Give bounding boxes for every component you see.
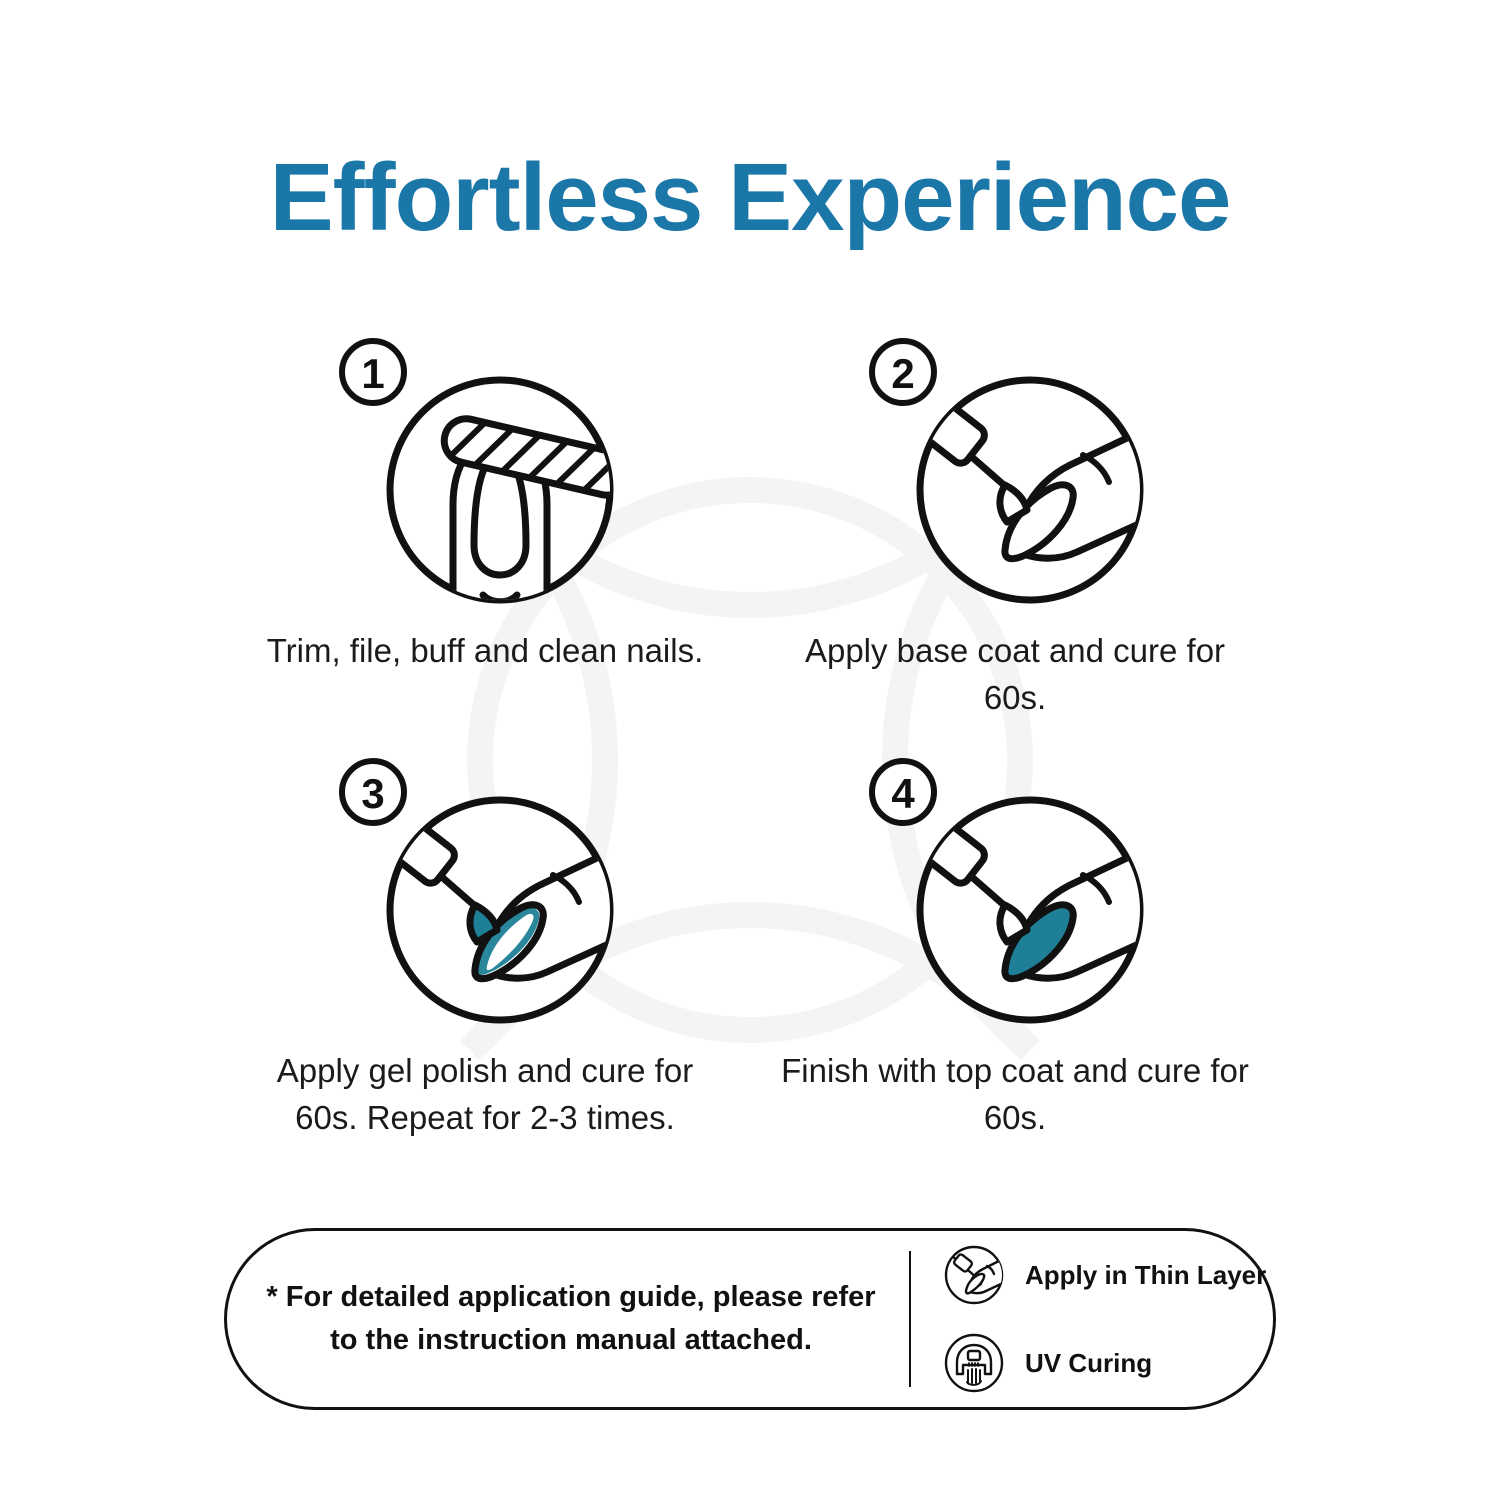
page-title: Effortless Experience <box>0 148 1500 249</box>
step-4-caption: Finish with top coat and cure for 60s. <box>780 1048 1250 1142</box>
thin-layer-brush-icon <box>943 1244 1005 1306</box>
footer-card: * For detailed application guide, please… <box>224 1228 1276 1410</box>
step-3-caption: Apply gel polish and cure for 60s. Repea… <box>250 1048 720 1142</box>
step-2-illustration: 2 <box>865 330 1165 620</box>
step-1: 1 Trim, file, buff and clean nails. <box>220 330 750 722</box>
steps-grid: 1 Trim, file, buff and clean nails. <box>220 330 1280 1141</box>
infographic-page: Effortless Experience <box>0 0 1500 1500</box>
step-4: 4 Finish with top coat and cure for 60s. <box>750 750 1280 1142</box>
step-1-illustration: 1 <box>335 330 635 620</box>
step-number-3: 3 <box>361 770 384 817</box>
badge-label-thin-layer: Apply in Thin Layer <box>1025 1260 1266 1291</box>
footer-badges: Apply in Thin Layer <box>911 1244 1273 1394</box>
badge-uv-curing: UV Curing <box>943 1332 1273 1394</box>
step-number-badge-3: 3 <box>342 761 404 823</box>
footer-note: * For detailed application guide, please… <box>227 1276 891 1363</box>
step-3: 3 Apply gel polish and cure for 60s. Rep… <box>220 750 750 1142</box>
step-2-caption: Apply base coat and cure for 60s. <box>780 628 1250 722</box>
step-number-4: 4 <box>891 770 915 817</box>
uv-lamp-icon <box>943 1332 1005 1394</box>
step-2: 2 Apply base coat and cure for 60s. <box>750 330 1280 722</box>
step-4-illustration: 4 <box>865 750 1165 1040</box>
step-number-badge-4: 4 <box>872 761 934 823</box>
step-number-badge-2: 2 <box>872 341 934 403</box>
badge-apply-in-thin-layer: Apply in Thin Layer <box>943 1244 1273 1306</box>
step-1-caption: Trim, file, buff and clean nails. <box>250 628 720 675</box>
step-number-1: 1 <box>361 350 384 397</box>
badge-label-uv-curing: UV Curing <box>1025 1348 1152 1379</box>
step-3-illustration: 3 <box>335 750 635 1040</box>
step-number-2: 2 <box>891 350 914 397</box>
step-number-badge-1: 1 <box>342 341 404 403</box>
